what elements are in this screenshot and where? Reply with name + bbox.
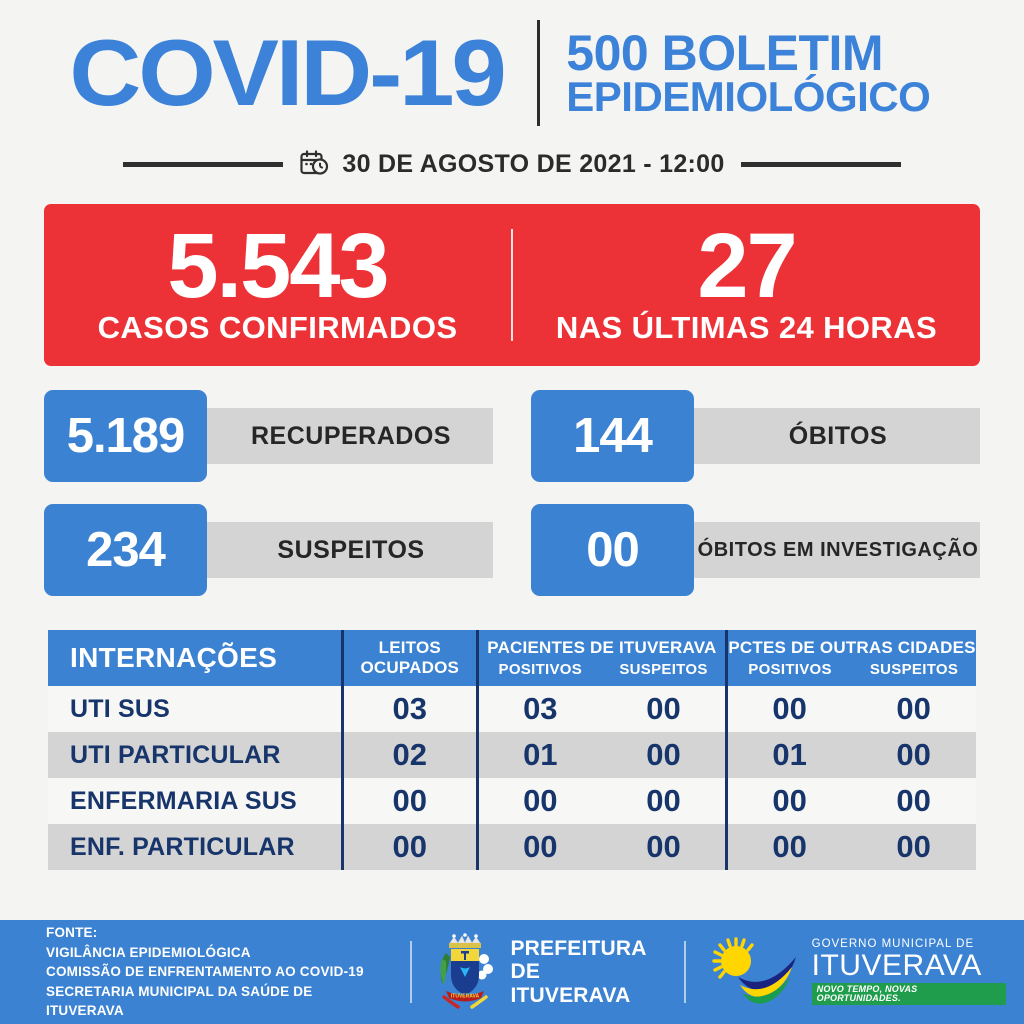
- stat-suspeitos: 234 SUSPEITOS: [44, 504, 493, 596]
- cell-local-positives: 00: [477, 824, 602, 870]
- cell-beds: 00: [342, 778, 477, 824]
- cell-other-positives: 00: [727, 686, 852, 732]
- calendar-clock-icon: [299, 149, 329, 179]
- cell-other-suspects: 00: [851, 732, 976, 778]
- stat-recuperados: 5.189 RECUPERADOS: [44, 390, 493, 482]
- last-24h-label: NAS ÚLTIMAS 24 HORAS: [513, 310, 980, 346]
- table-header-row: INTERNAÇÕES LEITOS OCUPADOS PACIENTES DE…: [48, 630, 976, 686]
- cell-beds: 00: [342, 824, 477, 870]
- cell-other-positives: 00: [727, 824, 852, 870]
- cell-other-suspects: 00: [851, 686, 976, 732]
- source-text: FONTE: VIGILÂNCIA EPIDEMIOLÓGICA COMISSÃ…: [46, 923, 390, 1021]
- rule-left: [123, 162, 283, 167]
- column-group-pacientes-ituverava: PACIENTES DE ITUVERAVA POSITIVOS SUSPEIT…: [477, 630, 726, 686]
- table-row: ENFERMARIA SUS 00 00 00 00 00: [48, 778, 976, 824]
- cell-other-suspects: 00: [851, 824, 976, 870]
- subcolumn-positivos-other: POSITIVOS: [728, 661, 852, 678]
- column-leitos-ocupados: LEITOS OCUPADOS: [342, 630, 477, 686]
- stat-label: ÓBITOS: [686, 408, 980, 464]
- confirmed-cases-label: CASOS CONFIRMADOS: [44, 310, 511, 346]
- stat-obitos: 144 ÓBITOS: [531, 390, 980, 482]
- subcolumn-positivos-local: POSITIVOS: [479, 661, 602, 678]
- sun-swoosh-logo-icon: [706, 933, 802, 1012]
- table-row: ENF. PARTICULAR 00 00 00 00 00: [48, 824, 976, 870]
- cell-local-positives: 00: [477, 778, 602, 824]
- rule-right: [741, 162, 901, 167]
- footer-divider-right: [684, 941, 686, 1003]
- page-title: COVID-19: [69, 31, 503, 116]
- last-24h-block: 27 NAS ÚLTIMAS 24 HORAS: [513, 224, 980, 347]
- hospitalizations-table: INTERNAÇÕES LEITOS OCUPADOS PACIENTES DE…: [48, 630, 976, 870]
- group-label-local: PACIENTES DE ITUVERAVA: [479, 638, 725, 658]
- cell-beds: 03: [342, 686, 477, 732]
- stat-label: ÓBITOS EM INVESTIGAÇÃO: [686, 522, 980, 578]
- subcolumn-suspeitos-local: SUSPEITOS: [602, 661, 725, 678]
- footer-divider-left: [410, 941, 412, 1003]
- confirmed-cases-banner: 5.543 CASOS CONFIRMADOS 27 NAS ÚLTIMAS 2…: [44, 204, 980, 366]
- table-header: INTERNAÇÕES LEITOS OCUPADOS PACIENTES DE…: [48, 630, 976, 686]
- cell-other-suspects: 00: [851, 778, 976, 824]
- stat-obitos-investigacao: 00 ÓBITOS EM INVESTIGAÇÃO: [531, 504, 980, 596]
- svg-text:ITUVERAVA: ITUVERAVA: [451, 993, 480, 999]
- row-label: ENFERMARIA SUS: [48, 778, 342, 824]
- ituverava-coat-of-arms-icon: ITUVERAVA: [432, 929, 498, 1016]
- bulletin-type-label: EPIDEMIOLÓGICO: [566, 77, 930, 116]
- row-label: UTI PARTICULAR: [48, 732, 342, 778]
- cell-local-suspects: 00: [602, 732, 727, 778]
- subcolumn-suspeitos-other: SUSPEITOS: [852, 661, 976, 678]
- prefeitura-logo: ITUVERAVA PREFEITURA DE ITUVERAVA: [432, 929, 663, 1016]
- table-row: UTI PARTICULAR 02 01 00 01 00: [48, 732, 976, 778]
- group-label-other: PCTES DE OUTRAS CIDADES: [728, 638, 976, 658]
- header-divider: [537, 20, 540, 126]
- last-24h-value: 27: [513, 224, 980, 309]
- hospitalizations-table-wrap: INTERNAÇÕES LEITOS OCUPADOS PACIENTES DE…: [48, 630, 976, 870]
- column-leitos-line2: OCUPADOS: [344, 658, 476, 678]
- governo-municipal-logo: GOVERNO MUNICIPAL DE ITUVERAVA NOVO TEMP…: [706, 933, 1006, 1012]
- cell-local-suspects: 00: [602, 824, 727, 870]
- bulletin-page: COVID-19 500 BOLETIM EPIDEMIOLÓGICO: [0, 0, 1024, 1024]
- governo-tagline: NOVO TEMPO, NOVAS OPORTUNIDADES.: [812, 983, 1006, 1005]
- table-body: UTI SUS 03 03 00 00 00 UTI PARTICULAR 02…: [48, 686, 976, 870]
- row-label: UTI SUS: [48, 686, 342, 732]
- confirmed-cases-value: 5.543: [44, 224, 511, 309]
- date-block: 30 DE AGOSTO DE 2021 - 12:00: [299, 149, 724, 179]
- bulletin-number-label: 500 BOLETIM: [566, 30, 930, 77]
- governo-line2: ITUVERAVA: [812, 951, 1006, 981]
- cell-local-positives: 01: [477, 732, 602, 778]
- confirmed-cases-block: 5.543 CASOS CONFIRMADOS: [44, 224, 511, 347]
- bulletin-subtitle: 500 BOLETIM EPIDEMIOLÓGICO: [566, 30, 930, 116]
- column-group-outras-cidades: PCTES DE OUTRAS CIDADES POSITIVOS SUSPEI…: [727, 630, 976, 686]
- prefeitura-line1: PREFEITURA: [510, 937, 663, 961]
- page-footer: FONTE: VIGILÂNCIA EPIDEMIOLÓGICA COMISSÃ…: [0, 920, 1024, 1024]
- stat-value: 00: [531, 504, 694, 596]
- cell-other-positives: 01: [727, 732, 852, 778]
- stat-value: 234: [44, 504, 207, 596]
- cell-local-suspects: 00: [602, 686, 727, 732]
- cell-other-positives: 00: [727, 778, 852, 824]
- cell-local-suspects: 00: [602, 778, 727, 824]
- table-title: INTERNAÇÕES: [48, 630, 342, 686]
- prefeitura-line2: DE ITUVERAVA: [510, 960, 663, 1007]
- row-label: ENF. PARTICULAR: [48, 824, 342, 870]
- column-leitos-line1: LEITOS: [344, 638, 476, 658]
- date-row: 30 DE AGOSTO DE 2021 - 12:00: [0, 146, 1024, 182]
- stat-label: SUSPEITOS: [199, 522, 493, 578]
- governo-text: GOVERNO MUNICIPAL DE ITUVERAVA NOVO TEMP…: [812, 939, 1006, 1005]
- table-row: UTI SUS 03 03 00 00 00: [48, 686, 976, 732]
- cell-local-positives: 03: [477, 686, 602, 732]
- bulletin-date: 30 DE AGOSTO DE 2021 - 12:00: [342, 150, 724, 179]
- stat-value: 144: [531, 390, 694, 482]
- cell-beds: 02: [342, 732, 477, 778]
- stat-value: 5.189: [44, 390, 207, 482]
- stat-label: RECUPERADOS: [199, 408, 493, 464]
- statistics-grid: 5.189 RECUPERADOS 144 ÓBITOS 234 SUSPEIT…: [44, 390, 980, 596]
- page-header: COVID-19 500 BOLETIM EPIDEMIOLÓGICO: [0, 0, 1024, 130]
- prefeitura-label: PREFEITURA DE ITUVERAVA: [510, 937, 663, 1008]
